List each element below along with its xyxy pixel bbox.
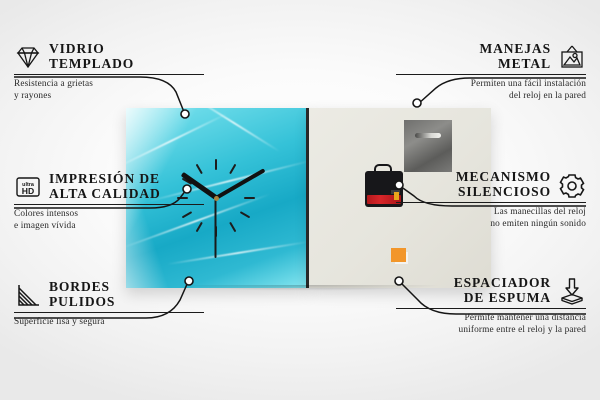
callout-desc-line2: uniforme entre el reloj y la pared (396, 325, 586, 337)
callout-title-line1: IMPRESIÓN DE (49, 172, 161, 187)
callout-title-line2: ALTA CALIDAD (49, 187, 161, 202)
callout-divider (14, 74, 204, 75)
framed-picture-hanging-icon (558, 43, 586, 71)
callout-desc-line1: Superficie lisa y segura (14, 317, 204, 329)
callout-title-line2: PULIDOS (49, 295, 115, 310)
callout-title-line2: DE ESPUMA (454, 291, 551, 306)
callout-desc-line1: Permite mantener una distancia (396, 313, 586, 325)
callout-title-line2: SILENCIOSO (456, 185, 551, 200)
callout-title-line1: MANEJAS (479, 42, 551, 57)
callout-divider (396, 202, 586, 203)
callout-bordes-pulidos: BORDES PULIDOS Superficie lisa y segura (14, 280, 204, 329)
callout-mecanismo-silencioso: MECANISMO SILENCIOSO Las manecillas del … (396, 170, 586, 231)
callout-desc-line1: Las manecillas del reloj (396, 207, 586, 219)
ultra-hd-badge-icon: ultra HD (14, 173, 42, 201)
callout-impresion-alta-calidad: ultra HD IMPRESIÓN DE ALTA CALIDAD Color… (14, 172, 204, 233)
callout-title-line1: MECANISMO (456, 170, 551, 185)
callout-espaciador-espuma: ESPACIADOR DE ESPUMA Permite mantener un… (396, 276, 586, 337)
svg-text:HD: HD (22, 186, 34, 196)
arrow-down-onto-pad-icon (558, 277, 586, 305)
callout-manejas-metal: MANEJAS METAL Permiten una fácil instala… (396, 42, 586, 103)
callout-desc-line2: e imagen vívida (14, 221, 204, 233)
callout-title-line2: METAL (479, 57, 551, 72)
callout-title-line1: VIDRIO (49, 42, 134, 57)
infographic-canvas: VIDRIO TEMPLADO Resistencia a grietas y … (0, 0, 600, 400)
callout-desc-line2: no emiten ningún sonido (396, 219, 586, 231)
callout-desc-line2: y rayones (14, 91, 204, 103)
callout-title-line2: TEMPLADO (49, 57, 134, 72)
callout-vidrio-templado: VIDRIO TEMPLADO Resistencia a grietas y … (14, 42, 204, 103)
callout-divider (14, 312, 204, 313)
diamond-icon (14, 43, 42, 71)
callout-divider (396, 74, 586, 75)
callout-divider (396, 308, 586, 309)
callout-title-line1: BORDES (49, 280, 115, 295)
gear-icon (558, 171, 586, 199)
callout-desc-line2: del reloj en la pared (396, 91, 586, 103)
callout-divider (14, 204, 204, 205)
callout-desc-line1: Permiten una fácil instalación (396, 79, 586, 91)
polished-edge-icon (14, 281, 42, 309)
callout-desc-line1: Resistencia a grietas (14, 79, 204, 91)
callout-desc-line1: Colores intensos (14, 209, 204, 221)
callout-title-line1: ESPACIADOR (454, 276, 551, 291)
